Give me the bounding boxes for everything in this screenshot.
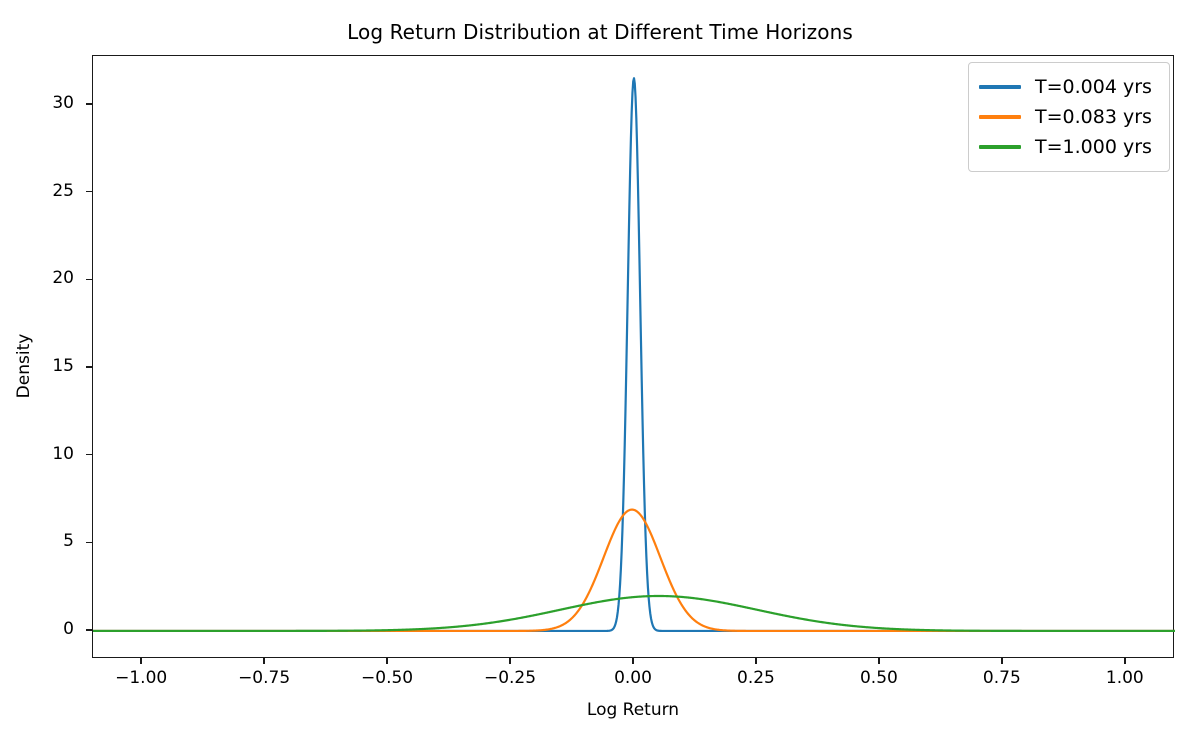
- legend-swatch-icon: [979, 115, 1021, 118]
- x-tick-mark: [878, 658, 879, 664]
- x-tick-label: 0.00: [578, 668, 688, 688]
- x-tick-label: −0.75: [209, 668, 319, 688]
- series-line-3: [93, 596, 1175, 631]
- y-tick-label: 20: [0, 268, 74, 288]
- legend-item-label: T=1.000 yrs: [1035, 136, 1152, 158]
- x-tick-label: −0.25: [455, 668, 565, 688]
- x-tick-mark: [632, 658, 633, 664]
- chart-figure: Log Return Distribution at Different Tim…: [0, 0, 1200, 750]
- x-tick-label: 1.00: [1070, 668, 1180, 688]
- x-tick-label: 0.25: [701, 668, 811, 688]
- legend-item[interactable]: T=0.083 yrs: [979, 102, 1159, 132]
- chart-title: Log Return Distribution at Different Tim…: [0, 20, 1200, 44]
- y-tick-label: 10: [0, 444, 74, 464]
- y-tick-mark: [86, 629, 92, 630]
- x-tick-mark: [386, 658, 387, 664]
- y-tick-mark: [86, 542, 92, 543]
- y-axis-label: Density: [14, 306, 34, 426]
- x-tick-mark: [1001, 658, 1002, 664]
- x-tick-label: 0.75: [947, 668, 1057, 688]
- legend-swatch-icon: [979, 85, 1021, 88]
- legend-item[interactable]: T=1.000 yrs: [979, 132, 1159, 162]
- legend-swatch-icon: [979, 145, 1021, 148]
- x-tick-mark: [140, 658, 141, 664]
- x-tick-mark: [263, 658, 264, 664]
- x-tick-mark: [509, 658, 510, 664]
- legend-item[interactable]: T=0.004 yrs: [979, 72, 1159, 102]
- x-tick-label: −0.50: [332, 668, 442, 688]
- x-tick-label: 0.50: [824, 668, 934, 688]
- y-tick-label: 25: [0, 181, 74, 201]
- x-axis-label: Log Return: [92, 700, 1174, 720]
- y-tick-mark: [86, 279, 92, 280]
- y-tick-label: 5: [0, 531, 74, 551]
- y-tick-mark: [86, 191, 92, 192]
- legend: T=0.004 yrs T=0.083 yrs T=1.000 yrs: [968, 62, 1170, 172]
- y-tick-mark: [86, 103, 92, 104]
- y-tick-label: 15: [0, 356, 74, 376]
- legend-item-label: T=0.083 yrs: [1035, 106, 1152, 128]
- y-tick-label: 0: [0, 619, 74, 639]
- y-tick-label: 30: [0, 93, 74, 113]
- y-tick-mark: [86, 366, 92, 367]
- x-tick-mark: [755, 658, 756, 664]
- series-line-2: [93, 510, 1175, 631]
- legend-item-label: T=0.004 yrs: [1035, 76, 1152, 98]
- y-tick-mark: [86, 454, 92, 455]
- x-tick-label: −1.00: [86, 668, 196, 688]
- x-tick-mark: [1124, 658, 1125, 664]
